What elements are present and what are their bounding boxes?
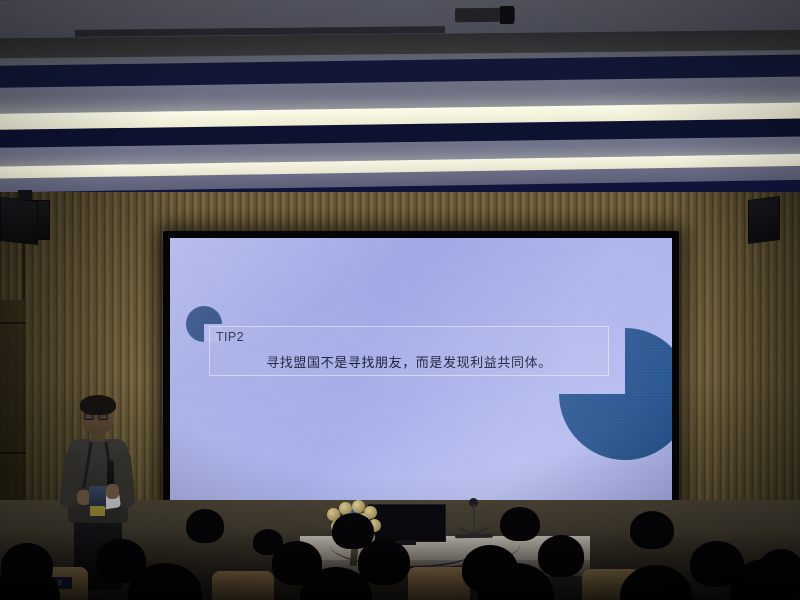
auditorium-seat xyxy=(408,567,470,600)
audience-head xyxy=(630,511,674,549)
wall-speaker-left-side xyxy=(0,197,38,245)
auditorium-scene: TIP2 寻找盟国不是寻找朋友，而是发现利益共同体。 xyxy=(0,0,800,600)
ceiling-vent-slot-icon xyxy=(500,6,514,24)
ceiling xyxy=(0,0,800,200)
glasses-lens-left-icon xyxy=(84,413,94,420)
audience-head xyxy=(358,539,410,585)
presenter-hand-right xyxy=(106,484,119,499)
glasses-lens-right-icon xyxy=(98,413,108,420)
speaker-mount-bracket xyxy=(18,190,32,200)
audience-head xyxy=(186,509,224,543)
presentation-slide[interactable]: TIP2 寻找盟国不是寻找朋友，而是发现利益共同体。 xyxy=(170,238,672,504)
audience-head xyxy=(500,507,540,541)
wall-speaker-right xyxy=(748,196,780,244)
presenter-hair xyxy=(80,395,116,415)
screen-scanlines xyxy=(170,238,672,504)
auditorium-seat xyxy=(212,571,274,600)
audience: 6 xyxy=(0,505,800,600)
audience-head xyxy=(538,535,584,577)
